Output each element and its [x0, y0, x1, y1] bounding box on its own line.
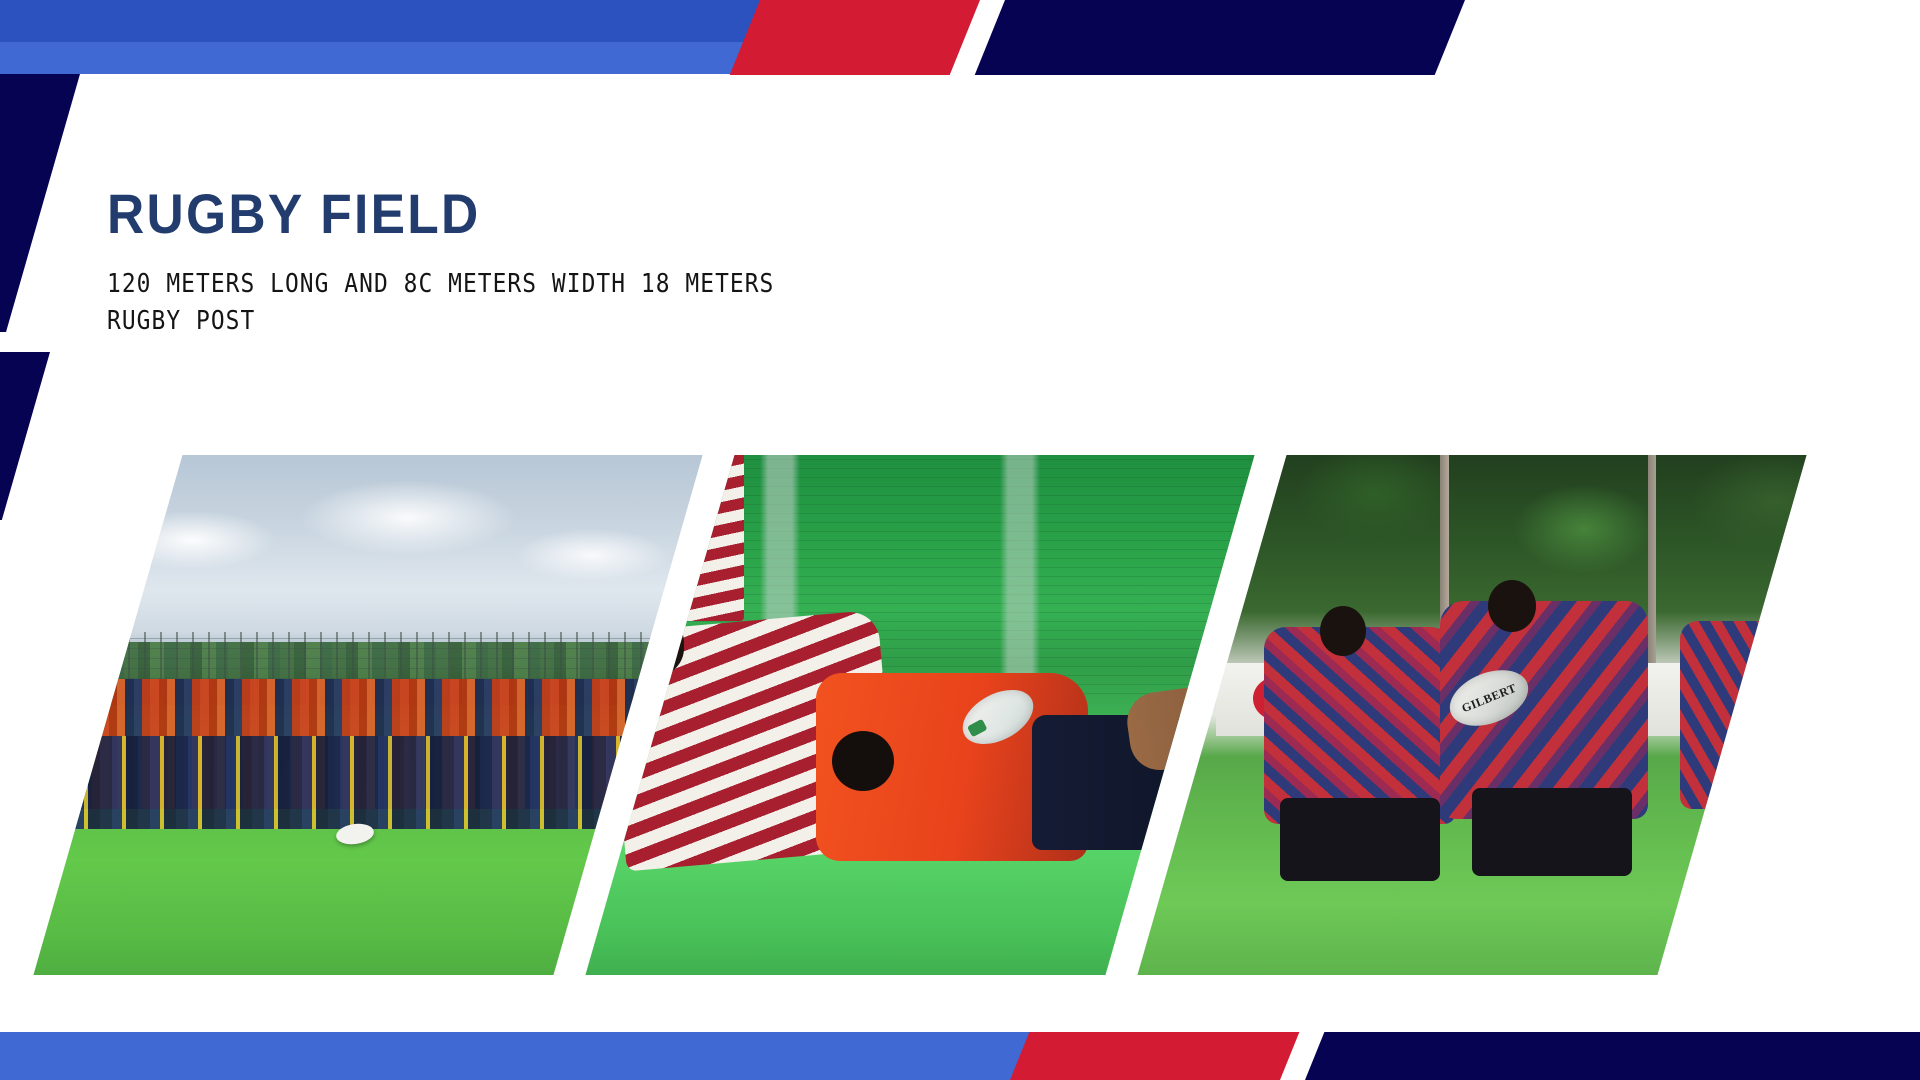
runner-front-head	[1320, 606, 1366, 656]
photo-team-group-image	[33, 455, 702, 975]
field-pole-right	[1648, 455, 1656, 663]
players-row-front	[33, 736, 702, 830]
photo-team-group	[33, 455, 702, 975]
sky-clouds	[33, 465, 702, 652]
runner-middle-head	[1488, 580, 1536, 632]
presentation-slide: RUGBY FIELD 120 METERS LONG AND 8C METER…	[0, 0, 1920, 1080]
bottom-red-parallelogram	[1010, 1032, 1299, 1080]
rugby-ball-brand-label: GILBERT	[1459, 681, 1518, 717]
subtitle-line-1: 120 METERS LONG AND 8C METERS WIDTH 18 M…	[107, 266, 1075, 304]
photo-tackle	[585, 455, 1254, 975]
ball-carrier-head	[832, 731, 894, 791]
left-navy-shape-upper	[0, 74, 80, 332]
slide-subtitle: 120 METERS LONG AND 8C METERS WIDTH 18 M…	[107, 266, 1075, 341]
top-red-parallelogram	[730, 0, 980, 75]
runner-middle-shorts	[1472, 788, 1632, 876]
photo-running: GILBERT	[1137, 455, 1806, 975]
bottom-bar-blue	[0, 1032, 1060, 1080]
runner-front	[1264, 627, 1456, 825]
photo-tackle-image	[585, 455, 1254, 975]
page-title: RUGBY FIELD	[107, 185, 1119, 244]
photo-gallery: GILBERT	[0, 455, 1920, 975]
bottom-navy-parallelogram	[1305, 1032, 1920, 1080]
top-navy-parallelogram	[975, 0, 1465, 75]
runner-back	[1680, 621, 1807, 808]
slide-text-block: RUGBY FIELD 120 METERS LONG AND 8C METER…	[107, 185, 1207, 341]
runner-front-shorts	[1280, 798, 1440, 881]
photo-running-image: GILBERT	[1137, 455, 1806, 975]
subtitle-line-2: RUGBY POST	[107, 303, 1075, 341]
